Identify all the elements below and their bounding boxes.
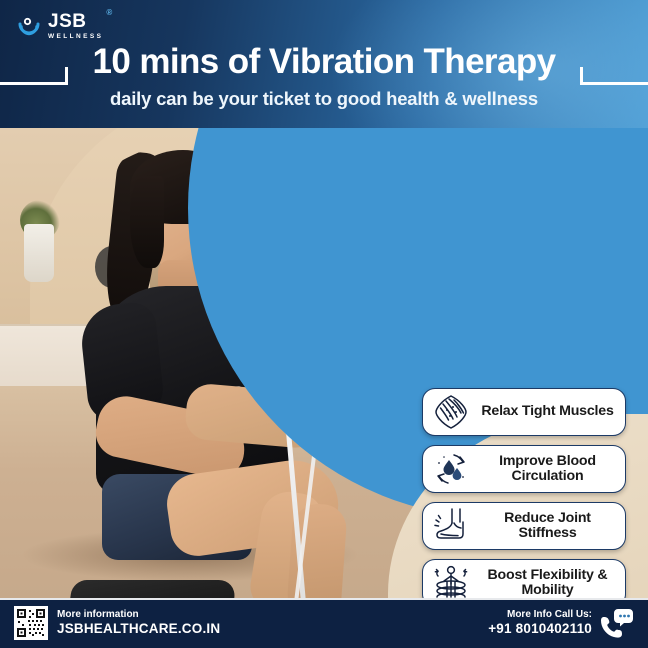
blood-drops-circulation-icon [430,449,472,489]
brand-logo[interactable]: JSB ® WELLNESS [16,12,103,41]
benefit-card-label: Reduce Joint Stiffness [479,511,616,542]
brand-logo-text: JSB ® WELLNESS [48,12,103,41]
website-url[interactable]: JSBHEALTHCARE.CO.IN [57,621,220,637]
phone-number[interactable]: +91 8010402110 [488,621,592,637]
footer-phone-text: More Info Call Us: +91 8010402110 [488,609,592,636]
headline-rule-right [580,82,648,85]
muscle-icon [430,392,472,432]
foot-ankle-icon [430,506,472,546]
qr-code-icon[interactable] [14,606,48,640]
subheadline: daily can be your ticket to good health … [0,89,648,109]
wellness-person-circle-icon [16,13,42,39]
footer-website-text: More information JSBHEALTHCARE.CO.IN [57,609,220,636]
stretching-figure-icon [430,563,472,598]
benefit-card-relax-muscles[interactable]: Relax Tight Muscles [422,388,626,436]
brand-tagline: WELLNESS [48,34,103,41]
machine-platform [67,580,237,598]
benefit-card-label: Boost Flexibility & Mobility [479,568,616,598]
headline: 10 mins of Vibration Therapy [0,44,648,79]
registered-mark: ® [106,9,112,17]
footer-website-block[interactable]: More information JSBHEALTHCARE.CO.IN [14,606,220,640]
brand-name: JSB [48,12,103,31]
hero-photo: Relax Tight Muscles [0,128,648,598]
benefit-card-label: Relax Tight Muscles [479,404,616,419]
vibration-plate-machine [56,580,246,598]
phone-chat-icon[interactable] [600,608,634,638]
promotional-poster: JSB ® WELLNESS 10 mins of Vibration Ther… [0,0,648,648]
more-information-label: More information [57,609,220,621]
footer-divider [0,598,648,600]
benefit-card-list: Relax Tight Muscles [422,388,626,598]
benefit-card-joint-stiffness[interactable]: Reduce Joint Stiffness [422,502,626,550]
headline-rule-left [0,82,68,85]
call-us-label: More Info Call Us: [507,609,592,621]
hair-side [130,176,164,268]
benefit-card-blood-circulation[interactable]: Improve Blood Circulation [422,445,626,493]
header-banner: JSB ® WELLNESS 10 mins of Vibration Ther… [0,0,648,128]
benefit-card-label: Improve Blood Circulation [479,454,616,485]
footer-bar: More information JSBHEALTHCARE.CO.IN Mor… [0,598,648,648]
footer-phone-block[interactable]: More Info Call Us: +91 8010402110 [488,608,634,638]
benefit-card-flexibility[interactable]: Boost Flexibility & Mobility [422,559,626,598]
